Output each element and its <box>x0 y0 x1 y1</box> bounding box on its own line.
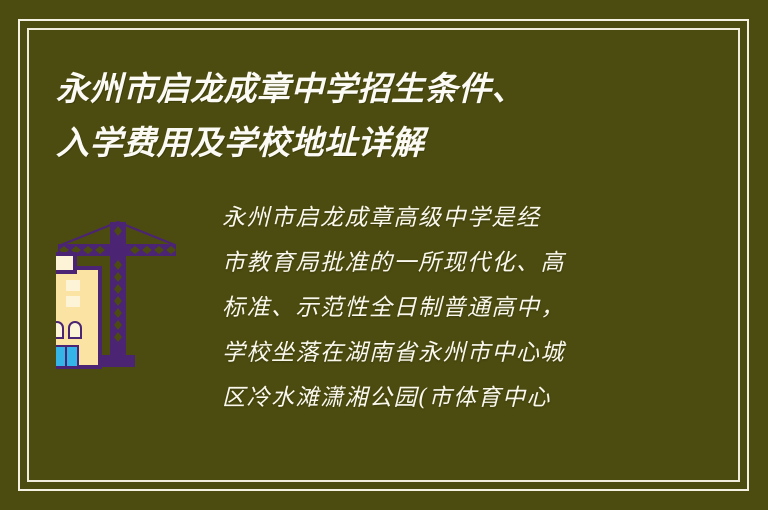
crane-base-icon <box>101 355 135 367</box>
building-under-construction-illustration <box>56 210 196 375</box>
body-paragraph: 永州市启龙成章高级中学是经 市教育局批准的一所现代化、高 标准、示范性全日制普通… <box>222 196 712 421</box>
office-building-icon <box>56 254 100 367</box>
body-line-5: 区冷水滩潇湘公园(市体育中心 <box>222 376 712 421</box>
title-line-1: 永州市启龙成章中学招生条件、 <box>56 62 676 116</box>
body-line-2: 市教育局批准的一所现代化、高 <box>222 241 712 286</box>
crane-mast-icon <box>110 222 126 356</box>
poster-card: 永州市启龙成章中学招生条件、 入学费用及学校地址详解 <box>0 0 768 510</box>
content-row: 永州市启龙成章高级中学是经 市教育局批准的一所现代化、高 标准、示范性全日制普通… <box>56 196 712 421</box>
page-title: 永州市启龙成章中学招生条件、 入学费用及学校地址详解 <box>56 62 676 170</box>
glass-door-icon <box>56 346 78 367</box>
body-line-1: 永州市启龙成章高级中学是经 <box>222 196 712 241</box>
body-line-3: 标准、示范性全日制普通高中， <box>222 286 712 331</box>
body-line-4: 学校坐落在湖南省永州市中心城 <box>222 331 712 376</box>
title-line-2: 入学费用及学校地址详解 <box>56 116 676 170</box>
